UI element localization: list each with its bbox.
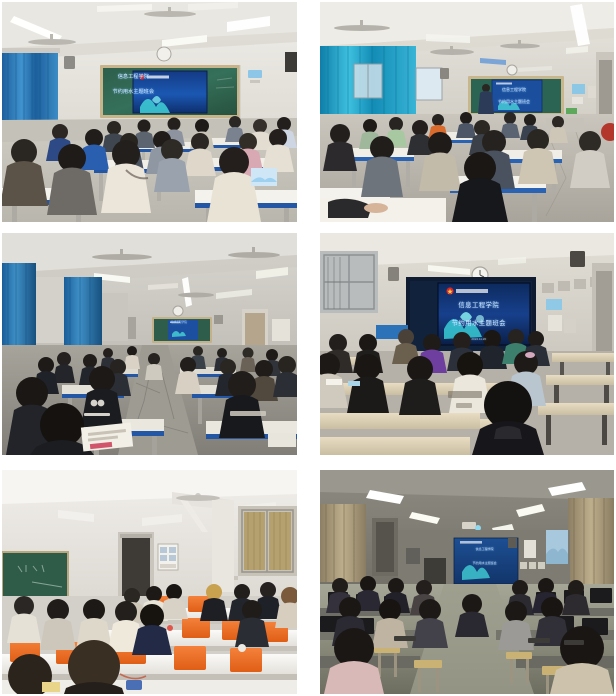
photo-middle-right[interactable]: 信息工程学院 节约用水主题班会 2024.11.20 <box>320 233 614 455</box>
photo-grid: 信息工程学院 节约用水主题班会 <box>0 0 616 696</box>
photo-top-right[interactable]: 信息工程学院 节约用水主题班会 <box>320 2 614 222</box>
photo-3-illustration <box>2 233 297 455</box>
photo-6-illustration <box>320 470 614 694</box>
photo-bottom-right[interactable]: 信息工程学院 节约用水主题班会 <box>320 470 614 694</box>
photo-4-illustration <box>320 233 614 455</box>
photo-1-illustration <box>2 2 297 222</box>
photo-2-illustration <box>320 2 614 222</box>
photo-5-illustration <box>2 470 297 694</box>
photo-middle-left[interactable]: 信息工程学院 <box>2 233 297 455</box>
photo-bottom-left[interactable] <box>2 470 297 694</box>
photo-top-left[interactable]: 信息工程学院 节约用水主题班会 <box>2 2 297 222</box>
